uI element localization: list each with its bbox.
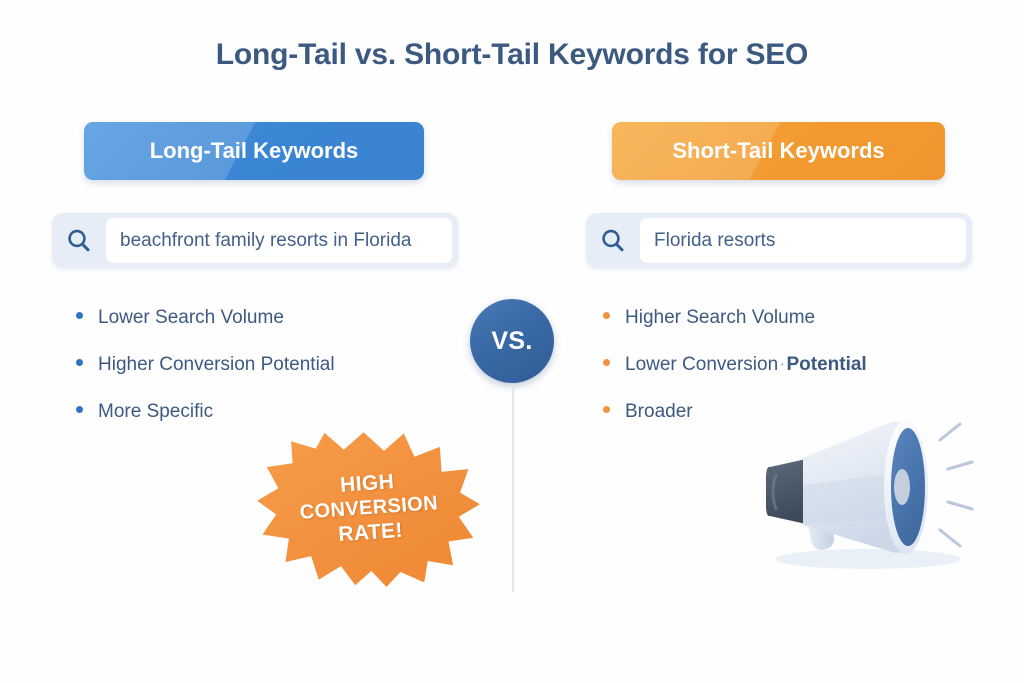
badge-line-1: HIGH — [339, 471, 395, 499]
list-item: Lower Search Volume — [76, 307, 335, 354]
short-tail-search-input[interactable]: Florida resorts — [640, 218, 966, 263]
megaphone-sound-rays — [940, 424, 972, 546]
short-tail-header-label: Short-Tail Keywords — [672, 138, 884, 164]
search-icon — [52, 213, 106, 268]
versus-label: VS. — [491, 327, 532, 356]
list-item-emphasis: Potential — [786, 354, 866, 376]
bullet-dot-icon — [603, 359, 610, 366]
list-item-label: Lower Search Volume — [98, 307, 284, 329]
badge-line-3: RATE! — [338, 519, 404, 548]
list-item-separator: · — [778, 354, 786, 376]
column-divider — [512, 384, 514, 592]
list-item-label: More Specific — [98, 401, 213, 423]
megaphone-center-knob — [894, 469, 910, 505]
long-tail-bullet-list: Lower Search Volume Higher Conversion Po… — [76, 307, 335, 448]
list-item-label: Higher Search Volume — [625, 307, 815, 329]
megaphone-icon — [756, 412, 976, 577]
list-item-label: Higher Conversion Potential — [98, 354, 335, 376]
bullet-dot-icon — [76, 359, 83, 366]
search-icon — [586, 213, 640, 268]
short-tail-search-bar[interactable]: Florida resorts — [586, 213, 972, 268]
page-title: Long-Tail vs. Short-Tail Keywords for SE… — [0, 38, 1024, 72]
bullet-dot-icon — [603, 312, 610, 319]
bullet-dot-icon — [603, 406, 610, 413]
list-item: Higher Search Volume — [603, 307, 867, 354]
long-tail-header-label: Long-Tail Keywords — [150, 138, 359, 164]
megaphone-shadow — [776, 549, 960, 569]
list-item: Lower Conversion · Potential — [603, 354, 867, 401]
bullet-dot-icon — [76, 312, 83, 319]
badge-text: HIGH CONVERSION RATE! — [253, 422, 485, 595]
long-tail-header-pill: Long-Tail Keywords — [84, 122, 424, 180]
bullet-dot-icon — [76, 406, 83, 413]
short-tail-header-pill: Short-Tail Keywords — [612, 122, 945, 180]
long-tail-search-bar[interactable]: beachfront family resorts in Florida — [52, 213, 458, 268]
list-item: Higher Conversion Potential — [76, 354, 335, 401]
versus-badge: VS. — [470, 299, 554, 383]
long-tail-search-input[interactable]: beachfront family resorts in Florida — [106, 218, 452, 263]
list-item-label: Lower Conversion — [625, 354, 778, 376]
infographic-canvas: Long-Tail vs. Short-Tail Keywords for SE… — [0, 0, 1024, 683]
high-conversion-rate-badge: HIGH CONVERSION RATE! — [253, 422, 485, 595]
list-item-label: Broader — [625, 401, 693, 423]
